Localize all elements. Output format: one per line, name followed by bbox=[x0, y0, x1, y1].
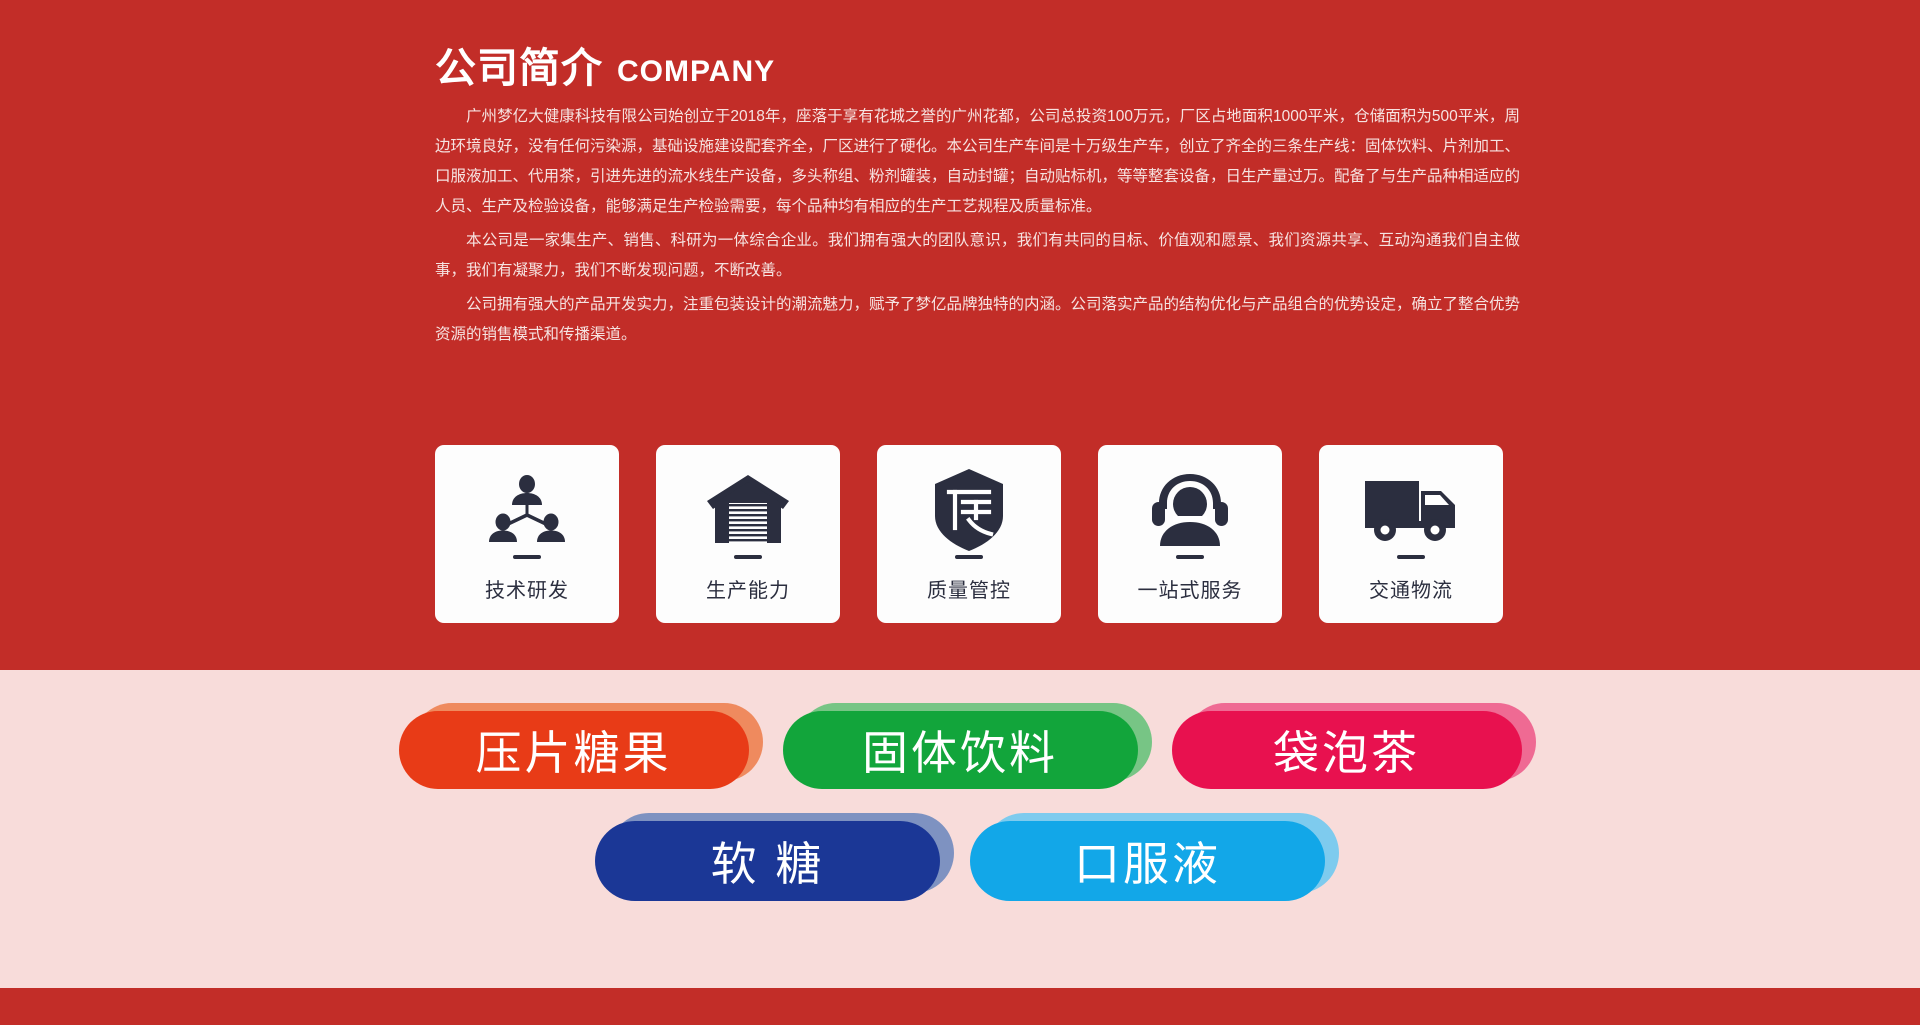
card-divider bbox=[1176, 555, 1204, 559]
intro-paragraph-1: 广州梦亿大健康科技有限公司始创立于2018年，座落于享有花城之誉的广州花都，公司… bbox=[435, 102, 1520, 222]
product-button-face[interactable]: 软 糖 bbox=[595, 821, 940, 901]
page-title-cn: 公司简介 bbox=[435, 48, 603, 89]
company-profile-page: 公司简介 COMPANY 广州梦亿大健康科技有限公司始创立于2018年，座落于享… bbox=[0, 0, 1920, 1025]
page-title-en: COMPANY bbox=[617, 57, 775, 87]
feature-card-production[interactable]: 生产能力 bbox=[656, 445, 840, 623]
feature-card-rd[interactable]: 技术研发 bbox=[435, 445, 619, 623]
headset-support-icon bbox=[1098, 467, 1282, 553]
feature-card-label: 一站式服务 bbox=[1138, 574, 1243, 603]
card-divider bbox=[1397, 555, 1425, 559]
product-button-face[interactable]: 压片糖果 bbox=[399, 711, 749, 789]
feature-card-logistics[interactable]: 交通物流 bbox=[1319, 445, 1503, 623]
feature-card-label: 技术研发 bbox=[485, 574, 569, 603]
product-button-pressed-candy[interactable]: 压片糖果 bbox=[399, 711, 749, 789]
section-heading: 公司简介 COMPANY bbox=[435, 0, 1520, 89]
product-button-row-2: 软 糖 口服液 bbox=[0, 789, 1920, 901]
intro-paragraph-3: 公司拥有强大的产品开发实力，注重包装设计的潮流魅力，赋予了梦亿品牌独特的内涵。公… bbox=[435, 290, 1520, 350]
card-divider bbox=[955, 555, 983, 559]
product-button-face[interactable]: 固体饮料 bbox=[783, 711, 1138, 789]
product-button-soft-candy[interactable]: 软 糖 bbox=[595, 821, 940, 901]
team-network-icon bbox=[435, 467, 619, 553]
card-divider bbox=[513, 555, 541, 559]
company-intro-section: 公司简介 COMPANY 广州梦亿大健康科技有限公司始创立于2018年，座落于享… bbox=[0, 0, 1920, 670]
product-button-label: 固体饮料 bbox=[862, 717, 1058, 783]
feature-card-label: 交通物流 bbox=[1369, 574, 1453, 603]
product-button-row-1: 压片糖果 固体饮料 袋泡茶 bbox=[0, 670, 1920, 789]
bottom-red-bar bbox=[0, 988, 1920, 1025]
feature-card-label: 生产能力 bbox=[706, 574, 790, 603]
feature-card-service[interactable]: 一站式服务 bbox=[1098, 445, 1282, 623]
product-button-label: 口服液 bbox=[1074, 828, 1221, 894]
intro-paragraph-2: 本公司是一家集生产、销售、科研为一体综合企业。我们拥有强大的团队意识，我们有共同… bbox=[435, 226, 1520, 286]
product-category-section: 压片糖果 固体饮料 袋泡茶 软 糖 bbox=[0, 670, 1920, 988]
delivery-truck-icon bbox=[1319, 467, 1503, 553]
product-button-label: 软 糖 bbox=[711, 828, 825, 894]
product-button-face[interactable]: 袋泡茶 bbox=[1172, 711, 1522, 789]
feature-card-label: 质量管控 bbox=[927, 574, 1011, 603]
feature-card-quality[interactable]: 质量管控 bbox=[877, 445, 1061, 623]
intro-content: 公司简介 COMPANY 广州梦亿大健康科技有限公司始创立于2018年，座落于享… bbox=[435, 0, 1520, 350]
product-button-label: 压片糖果 bbox=[476, 717, 672, 783]
warehouse-icon bbox=[656, 467, 840, 553]
feature-card-list: 技术研发 bbox=[435, 445, 1503, 623]
product-button-face[interactable]: 口服液 bbox=[970, 821, 1325, 901]
product-button-tea-bag[interactable]: 袋泡茶 bbox=[1172, 711, 1522, 789]
product-button-solid-drink[interactable]: 固体饮料 bbox=[783, 711, 1138, 789]
card-divider bbox=[734, 555, 762, 559]
product-button-label: 袋泡茶 bbox=[1273, 717, 1420, 783]
product-button-oral-liquid[interactable]: 口服液 bbox=[970, 821, 1325, 901]
quality-shield-icon bbox=[877, 467, 1061, 553]
